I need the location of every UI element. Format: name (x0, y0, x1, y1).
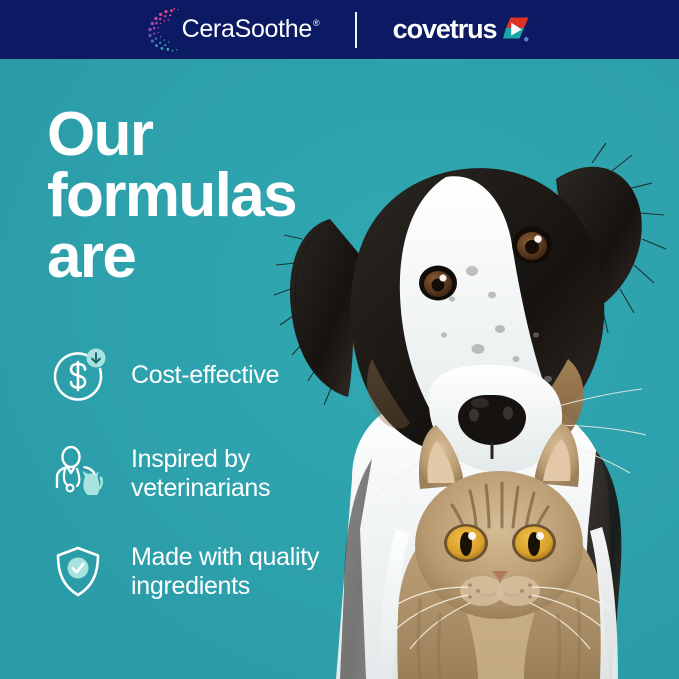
cerasoothe-wordmark: CeraSoothe (182, 15, 312, 44)
covetrus-logo[interactable]: covetrus (393, 14, 536, 45)
promo-banner: CeraSoothe ® covetrus Our formulas are (0, 0, 679, 679)
feature-label-cost-effective: Cost-effective (131, 361, 279, 391)
brand-header: CeraSoothe ® covetrus (0, 0, 679, 59)
dog-eyes (419, 227, 552, 301)
dog-nose (458, 395, 526, 459)
page-title: Our formulas are (47, 105, 296, 287)
cerasoothe-logo[interactable]: CeraSoothe ® (144, 7, 319, 53)
feature-item-inspired-by-veterinarians: Inspired by veterinarians (47, 443, 367, 505)
feature-list: Cost-effective (47, 345, 367, 603)
headline-line-2: formulas (47, 166, 296, 227)
feature-item-made-with-quality-ingredients: Made with quality ingredients (47, 541, 367, 603)
shield-check-quality-icon (47, 541, 109, 603)
headline-line-3: are (47, 227, 296, 288)
feature-label-line: Cost-effective (131, 361, 279, 389)
headline-line-1: Our (47, 105, 296, 166)
covetrus-mark-icon (501, 16, 535, 46)
feature-label-line: veterinarians (131, 474, 270, 504)
veterinarian-with-cat-icon (47, 443, 109, 505)
feature-label-line: Inspired by (131, 445, 270, 475)
cat-eyes (444, 524, 556, 562)
logo-divider (355, 12, 357, 48)
cat-figure (390, 423, 610, 679)
cost-savings-dollar-icon (47, 345, 109, 407)
logo-group: CeraSoothe ® covetrus (144, 7, 536, 53)
feature-label-line: Made with quality (131, 543, 319, 573)
cerasoothe-trademark: ® (313, 18, 320, 28)
feature-label-line: ingredients (131, 572, 319, 602)
covetrus-wordmark: covetrus (393, 14, 497, 45)
feature-item-cost-effective: Cost-effective (47, 345, 367, 407)
feature-label-made-with-quality-ingredients: Made with quality ingredients (131, 543, 319, 602)
feature-label-inspired-by-veterinarians: Inspired by veterinarians (131, 445, 270, 504)
